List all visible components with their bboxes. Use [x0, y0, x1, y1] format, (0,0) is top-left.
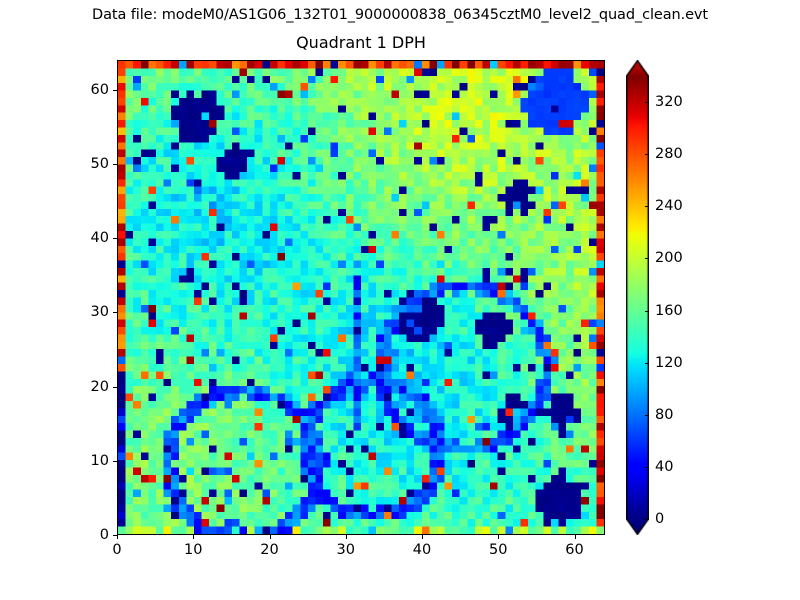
x-tick-label: 50	[489, 542, 507, 558]
x-tick-mark	[193, 535, 194, 539]
colorbar-tick-label: 0	[655, 511, 664, 527]
x-tick-mark	[346, 535, 347, 539]
colorbar-gradient	[626, 60, 649, 535]
x-tick-label: 0	[112, 542, 121, 558]
y-tick-mark	[113, 238, 117, 239]
y-tick-label: 40	[69, 230, 109, 246]
figure-suptitle: Data file: modeM0/AS1G06_132T01_90000008…	[0, 7, 800, 23]
colorbar-tick-mark	[645, 467, 649, 468]
figure-canvas: Data file: modeM0/AS1G06_132T01_90000008…	[0, 0, 800, 600]
axes-title: Quadrant 1 DPH	[117, 33, 605, 52]
colorbar-tick-mark	[645, 415, 649, 416]
y-tick-label: 10	[69, 453, 109, 469]
colorbar[interactable]	[626, 60, 649, 535]
colorbar-tick-label: 320	[655, 94, 683, 110]
colorbar-tick-label: 200	[655, 250, 683, 266]
y-tick-mark	[113, 387, 117, 388]
x-tick-label: 10	[184, 542, 202, 558]
heatmap-image[interactable]	[118, 61, 604, 534]
x-tick-label: 40	[413, 542, 431, 558]
y-tick-label: 30	[69, 304, 109, 320]
colorbar-tick-mark	[645, 206, 649, 207]
x-tick-mark	[270, 535, 271, 539]
x-tick-label: 30	[337, 542, 355, 558]
colorbar-tick-label: 240	[655, 198, 683, 214]
x-tick-mark	[575, 535, 576, 539]
y-tick-mark	[113, 461, 117, 462]
y-tick-label: 50	[69, 156, 109, 172]
x-tick-mark	[117, 535, 118, 539]
colorbar-tick-label: 280	[655, 146, 683, 162]
y-tick-mark	[113, 164, 117, 165]
y-tick-mark	[113, 90, 117, 91]
colorbar-tick-label: 40	[655, 459, 673, 475]
colorbar-tick-mark	[645, 311, 649, 312]
colorbar-tick-mark	[645, 519, 649, 520]
colorbar-tick-label: 160	[655, 303, 683, 319]
y-tick-mark	[113, 535, 117, 536]
colorbar-tick-label: 80	[655, 407, 673, 423]
colorbar-tick-mark	[645, 258, 649, 259]
x-tick-label: 20	[260, 542, 278, 558]
colorbar-tick-mark	[645, 102, 649, 103]
heatmap-axes[interactable]	[117, 60, 605, 535]
y-tick-label: 60	[69, 82, 109, 98]
y-tick-label: 20	[69, 379, 109, 395]
colorbar-tick-mark	[645, 363, 649, 364]
x-tick-mark	[422, 535, 423, 539]
x-tick-label: 60	[565, 542, 583, 558]
x-tick-mark	[498, 535, 499, 539]
y-tick-label: 0	[69, 527, 109, 543]
colorbar-tick-mark	[645, 154, 649, 155]
colorbar-tick-label: 120	[655, 355, 683, 371]
y-tick-mark	[113, 312, 117, 313]
